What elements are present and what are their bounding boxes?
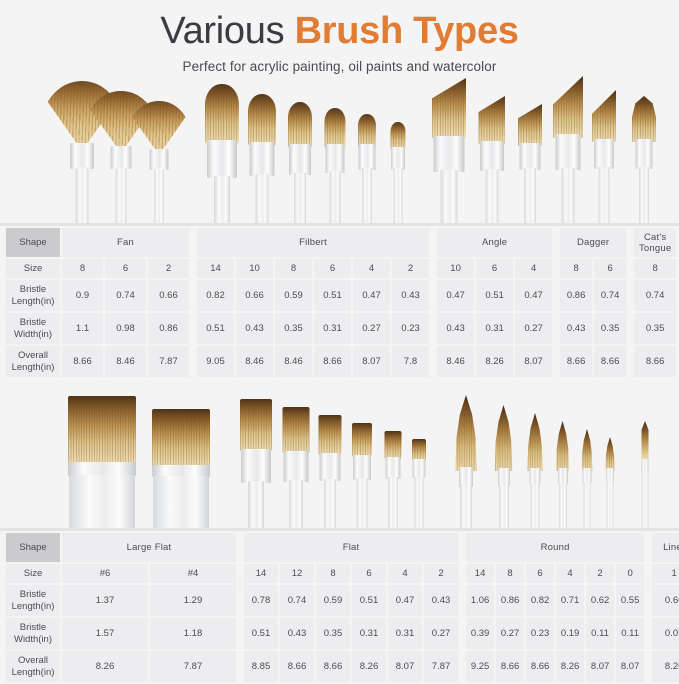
cell-bristle-width: 0.27 [515, 313, 552, 344]
poster-page: Various Brush Types Perfect for acrylic … [0, 0, 679, 679]
cell-overall-length: 8.07 [388, 651, 422, 682]
cell-bristle-width: 0.43 [560, 313, 592, 344]
section-gap [0, 379, 679, 389]
brush-round-6 [525, 413, 545, 531]
cell-overall-length: 8.66 [314, 346, 351, 377]
cell-bristle-width: 0.27 [353, 313, 390, 344]
cell-size: 6 [352, 564, 386, 583]
spacer [460, 618, 464, 649]
brush-dagger-8 [553, 76, 583, 226]
spacer [191, 259, 195, 278]
cell-bristle-length: 0.71 [556, 585, 584, 616]
cell-overall-length: 8.66 [526, 651, 554, 682]
brush-shelf-line-2 [0, 528, 679, 531]
spacer [646, 618, 650, 649]
spacer [646, 585, 650, 616]
cell-overall-length: 8.46 [236, 346, 273, 377]
cell-overall-length: 8.66 [496, 651, 524, 682]
cell-size: 12 [280, 564, 314, 583]
brush-artwork-row-2 [0, 389, 679, 531]
spacer [554, 280, 558, 311]
cell-size: 6 [476, 259, 513, 278]
row-label-shape: Shape [6, 533, 60, 562]
cell-bristle-length: 0.59 [316, 585, 350, 616]
cell-overall-length: 7.8 [392, 346, 429, 377]
cell-bristle-width: 0.31 [476, 313, 513, 344]
spec-table-2: Shape Large Flat Flat Round Liner Size #… [4, 531, 679, 684]
row-label-overall-length: Overall Length(in) [6, 651, 60, 682]
cell-overall-length: 8.26 [62, 651, 148, 682]
cell-size: 8 [316, 564, 350, 583]
cell-bristle-width: 0.31 [388, 618, 422, 649]
cell-size: 4 [388, 564, 422, 583]
cell-bristle-length: 0.47 [437, 280, 474, 311]
cell-bristle-length: 1.37 [62, 585, 148, 616]
cell-bristle-length: 0.43 [424, 585, 458, 616]
cell-overall-length: 7.87 [150, 651, 236, 682]
cell-bristle-width: 0.07 [652, 618, 679, 649]
cell-bristle-length: 0.51 [314, 280, 351, 311]
cell-bristle-length: 0.47 [388, 585, 422, 616]
cell-bristle-width: 1.18 [150, 618, 236, 649]
spacer [238, 564, 242, 583]
brush-liner-1 [640, 421, 650, 531]
cell-bristle-length: 0.74 [280, 585, 314, 616]
cell-overall-length: 8.07 [515, 346, 552, 377]
row-label-shape: Shape [6, 228, 60, 257]
cell-overall-length: 7.87 [148, 346, 189, 377]
brush-round-8 [492, 405, 515, 531]
brush-filbert-6 [324, 108, 345, 226]
cell-bristle-length: 0.66 [236, 280, 273, 311]
cell-overall-length: 8.66 [316, 651, 350, 682]
table-row-bristle-width: Bristle Width(in) 1.57 1.18 0.51 0.43 0.… [6, 618, 679, 649]
cell-size: 14 [197, 259, 234, 278]
page-title: Various Brush Types [0, 9, 679, 53]
cell-bristle-length: 0.74 [105, 280, 146, 311]
brush-filbert-10 [248, 94, 276, 226]
cell-size: 4 [353, 259, 390, 278]
brush-filbert-4 [358, 114, 376, 226]
row-label-bristle-width: Bristle Width(in) [6, 618, 60, 649]
table-row-size: Size #6 #4 14 12 8 6 4 2 14 8 6 4 2 0 1 [6, 564, 679, 583]
cell-bristle-length: 1.06 [466, 585, 494, 616]
spacer [431, 346, 435, 377]
brush-cats-tongue-8 [632, 96, 656, 226]
cell-overall-length: 8.66 [634, 346, 676, 377]
cell-bristle-width: 0.86 [148, 313, 189, 344]
table-row-overall-length: Overall Length(in) 8.66 8.46 7.87 9.05 8… [6, 346, 676, 377]
cell-size: 2 [392, 259, 429, 278]
cell-bristle-width: 0.43 [437, 313, 474, 344]
spacer [191, 228, 195, 257]
brush-flat-8 [318, 415, 341, 531]
cell-size: 8 [634, 259, 676, 278]
cell-bristle-length: 0.51 [476, 280, 513, 311]
spacer [238, 533, 242, 562]
group-header-fan: Fan [62, 228, 189, 257]
spec-table-1-wrap: Shape Fan Filbert Angle Dagger Cat's Ton… [0, 226, 679, 379]
group-header-angle: Angle [437, 228, 552, 257]
cell-size: 6 [314, 259, 351, 278]
cell-bristle-width: 0.31 [352, 618, 386, 649]
cell-bristle-width: 0.27 [424, 618, 458, 649]
brush-round-4 [554, 421, 571, 531]
cell-bristle-length: 0.47 [515, 280, 552, 311]
spacer [554, 228, 558, 257]
cell-overall-length: 8.26 [476, 346, 513, 377]
row-label-size: Size [6, 564, 60, 583]
spacer [238, 585, 242, 616]
brush-filbert-8 [288, 102, 312, 226]
table-row-bristle-length: Bristle Length(in) 1.37 1.29 0.78 0.74 0… [6, 585, 679, 616]
cell-bristle-width: 0.11 [586, 618, 614, 649]
cell-bristle-width: 0.51 [244, 618, 278, 649]
brush-artwork-row-1 [0, 74, 679, 226]
group-header-large-flat: Large Flat [62, 533, 236, 562]
cell-size: 4 [556, 564, 584, 583]
spacer [431, 280, 435, 311]
row-label-size: Size [6, 259, 60, 278]
brush-flat-14 [240, 399, 272, 531]
cell-overall-length: 8.66 [560, 346, 592, 377]
cell-overall-length: 8.85 [244, 651, 278, 682]
spacer [191, 313, 195, 344]
spacer [431, 313, 435, 344]
spacer [628, 228, 632, 257]
cell-bristle-width: 0.23 [526, 618, 554, 649]
page-subtitle: Perfect for acrylic painting, oil paints… [0, 59, 679, 74]
cell-bristle-width: 0.19 [556, 618, 584, 649]
cell-size: 14 [244, 564, 278, 583]
brush-large-flat-4 [152, 409, 210, 531]
cell-size: 6 [526, 564, 554, 583]
spacer [431, 259, 435, 278]
cell-size: 10 [236, 259, 273, 278]
spacer [460, 533, 464, 562]
cell-bristle-width: 0.98 [105, 313, 146, 344]
cell-size: 8 [496, 564, 524, 583]
spacer [191, 346, 195, 377]
brush-dagger-6 [592, 90, 616, 226]
brush-filbert-14 [205, 84, 239, 226]
cell-overall-length: 8.26 [652, 651, 679, 682]
spacer [628, 259, 632, 278]
table-row-bristle-width: Bristle Width(in) 1.1 0.98 0.86 0.51 0.4… [6, 313, 676, 344]
cell-bristle-length: 0.55 [616, 585, 644, 616]
cell-bristle-length: 0.82 [197, 280, 234, 311]
cell-bristle-length: 0.51 [352, 585, 386, 616]
cell-bristle-length: 0.47 [353, 280, 390, 311]
cell-bristle-length: 0.9 [62, 280, 103, 311]
cell-overall-length: 8.07 [586, 651, 614, 682]
spacer [238, 651, 242, 682]
row-label-bristle-width: Bristle Width(in) [6, 313, 60, 344]
brush-shelf-line-1 [0, 223, 679, 226]
header: Various Brush Types Perfect for acrylic … [0, 0, 679, 74]
cell-bristle-width: 0.35 [275, 313, 312, 344]
cell-size: 8 [275, 259, 312, 278]
cell-size: 8 [560, 259, 592, 278]
spacer [628, 346, 632, 377]
spacer [460, 651, 464, 682]
cell-size: 14 [466, 564, 494, 583]
cell-size: 4 [515, 259, 552, 278]
cell-overall-length: 7.87 [424, 651, 458, 682]
cell-bristle-width: 1.57 [62, 618, 148, 649]
spacer [460, 585, 464, 616]
brush-angle-10 [432, 78, 466, 226]
cell-bristle-width: 0.43 [236, 313, 273, 344]
cell-size: 8 [62, 259, 103, 278]
row-label-overall-length: Overall Length(in) [6, 346, 60, 377]
title-part-one: Various [160, 10, 294, 52]
cell-size: 2 [586, 564, 614, 583]
cell-bristle-width: 0.35 [316, 618, 350, 649]
cell-bristle-width: 0.35 [594, 313, 626, 344]
table-row-overall-length: Overall Length(in) 8.26 7.87 8.85 8.66 8… [6, 651, 679, 682]
spacer [554, 313, 558, 344]
brush-flat-6 [352, 423, 372, 531]
cell-bristle-width: 0.35 [634, 313, 676, 344]
cell-size: 10 [437, 259, 474, 278]
cell-size: 1 [652, 564, 679, 583]
cell-overall-length: 8.07 [353, 346, 390, 377]
spacer [628, 280, 632, 311]
spacer [554, 259, 558, 278]
brush-fan-2 [128, 101, 190, 226]
cell-bristle-width: 0.51 [197, 313, 234, 344]
group-header-cats-tongue: Cat's Tongue [634, 228, 676, 257]
cell-overall-length: 8.66 [62, 346, 103, 377]
spacer [191, 280, 195, 311]
cell-size: 6 [594, 259, 626, 278]
cell-overall-length: 8.46 [275, 346, 312, 377]
spec-table-2-wrap: Shape Large Flat Flat Round Liner Size #… [0, 531, 679, 684]
table-row-size: Size 8 6 2 14 10 8 6 4 2 10 6 4 8 6 8 [6, 259, 676, 278]
cell-bristle-width: 0.31 [314, 313, 351, 344]
row-label-bristle-length: Bristle Length(in) [6, 280, 60, 311]
cell-overall-length: 8.66 [280, 651, 314, 682]
cell-bristle-length: 0.86 [560, 280, 592, 311]
brush-flat-12 [282, 407, 309, 531]
brush-flat-4 [384, 431, 401, 531]
brush-round-0 [604, 437, 616, 531]
cell-overall-length: 8.26 [352, 651, 386, 682]
cell-bristle-width: 0.43 [280, 618, 314, 649]
spacer [646, 651, 650, 682]
table-row-bristle-length: Bristle Length(in) 0.9 0.74 0.66 0.82 0.… [6, 280, 676, 311]
brush-round-14 [452, 395, 480, 531]
cell-bristle-width: 0.27 [496, 618, 524, 649]
cell-size: 2 [148, 259, 189, 278]
cell-overall-length: 9.05 [197, 346, 234, 377]
spacer [460, 564, 464, 583]
table-row-shape: Shape Large Flat Flat Round Liner [6, 533, 679, 562]
brush-angle-6 [478, 96, 505, 226]
cell-overall-length: 8.46 [437, 346, 474, 377]
cell-size: #6 [62, 564, 148, 583]
group-header-dagger: Dagger [560, 228, 626, 257]
table-row-shape: Shape Fan Filbert Angle Dagger Cat's Ton… [6, 228, 676, 257]
spacer [554, 346, 558, 377]
spacer [646, 533, 650, 562]
cell-bristle-width: 0.23 [392, 313, 429, 344]
spacer [431, 228, 435, 257]
cell-overall-length: 8.46 [105, 346, 146, 377]
spacer [646, 564, 650, 583]
brush-round-2 [580, 429, 594, 531]
spec-table-1: Shape Fan Filbert Angle Dagger Cat's Ton… [4, 226, 678, 379]
cell-bristle-length: 0.66 [652, 585, 679, 616]
cell-bristle-width: 1.1 [62, 313, 103, 344]
cell-size: 0 [616, 564, 644, 583]
cell-size: 6 [105, 259, 146, 278]
cell-bristle-width: 0.11 [616, 618, 644, 649]
cell-bristle-length: 0.62 [586, 585, 614, 616]
row-label-bristle-length: Bristle Length(in) [6, 585, 60, 616]
cell-size: #4 [150, 564, 236, 583]
brush-flat-2 [412, 439, 426, 531]
spacer [238, 618, 242, 649]
cell-bristle-length: 0.74 [634, 280, 676, 311]
brush-filbert-2 [390, 122, 405, 226]
cell-overall-length: 8.07 [616, 651, 644, 682]
cell-overall-length: 8.26 [556, 651, 584, 682]
cell-bristle-length: 0.82 [526, 585, 554, 616]
cell-overall-length: 8.66 [594, 346, 626, 377]
cell-bristle-length: 1.29 [150, 585, 236, 616]
group-header-flat: Flat [244, 533, 458, 562]
cell-bristle-length: 0.59 [275, 280, 312, 311]
group-header-liner: Liner [652, 533, 679, 562]
cell-bristle-width: 0.39 [466, 618, 494, 649]
cell-overall-length: 9.25 [466, 651, 494, 682]
cell-size: 2 [424, 564, 458, 583]
cell-bristle-length: 0.66 [148, 280, 189, 311]
brush-angle-4 [518, 104, 542, 226]
cell-bristle-length: 0.74 [594, 280, 626, 311]
brush-large-flat-6 [68, 396, 136, 531]
cell-bristle-length: 0.43 [392, 280, 429, 311]
cell-bristle-length: 0.78 [244, 585, 278, 616]
spacer [628, 313, 632, 344]
cell-bristle-length: 0.86 [496, 585, 524, 616]
group-header-filbert: Filbert [197, 228, 429, 257]
group-header-round: Round [466, 533, 644, 562]
title-part-two: Brush Types [295, 10, 519, 52]
